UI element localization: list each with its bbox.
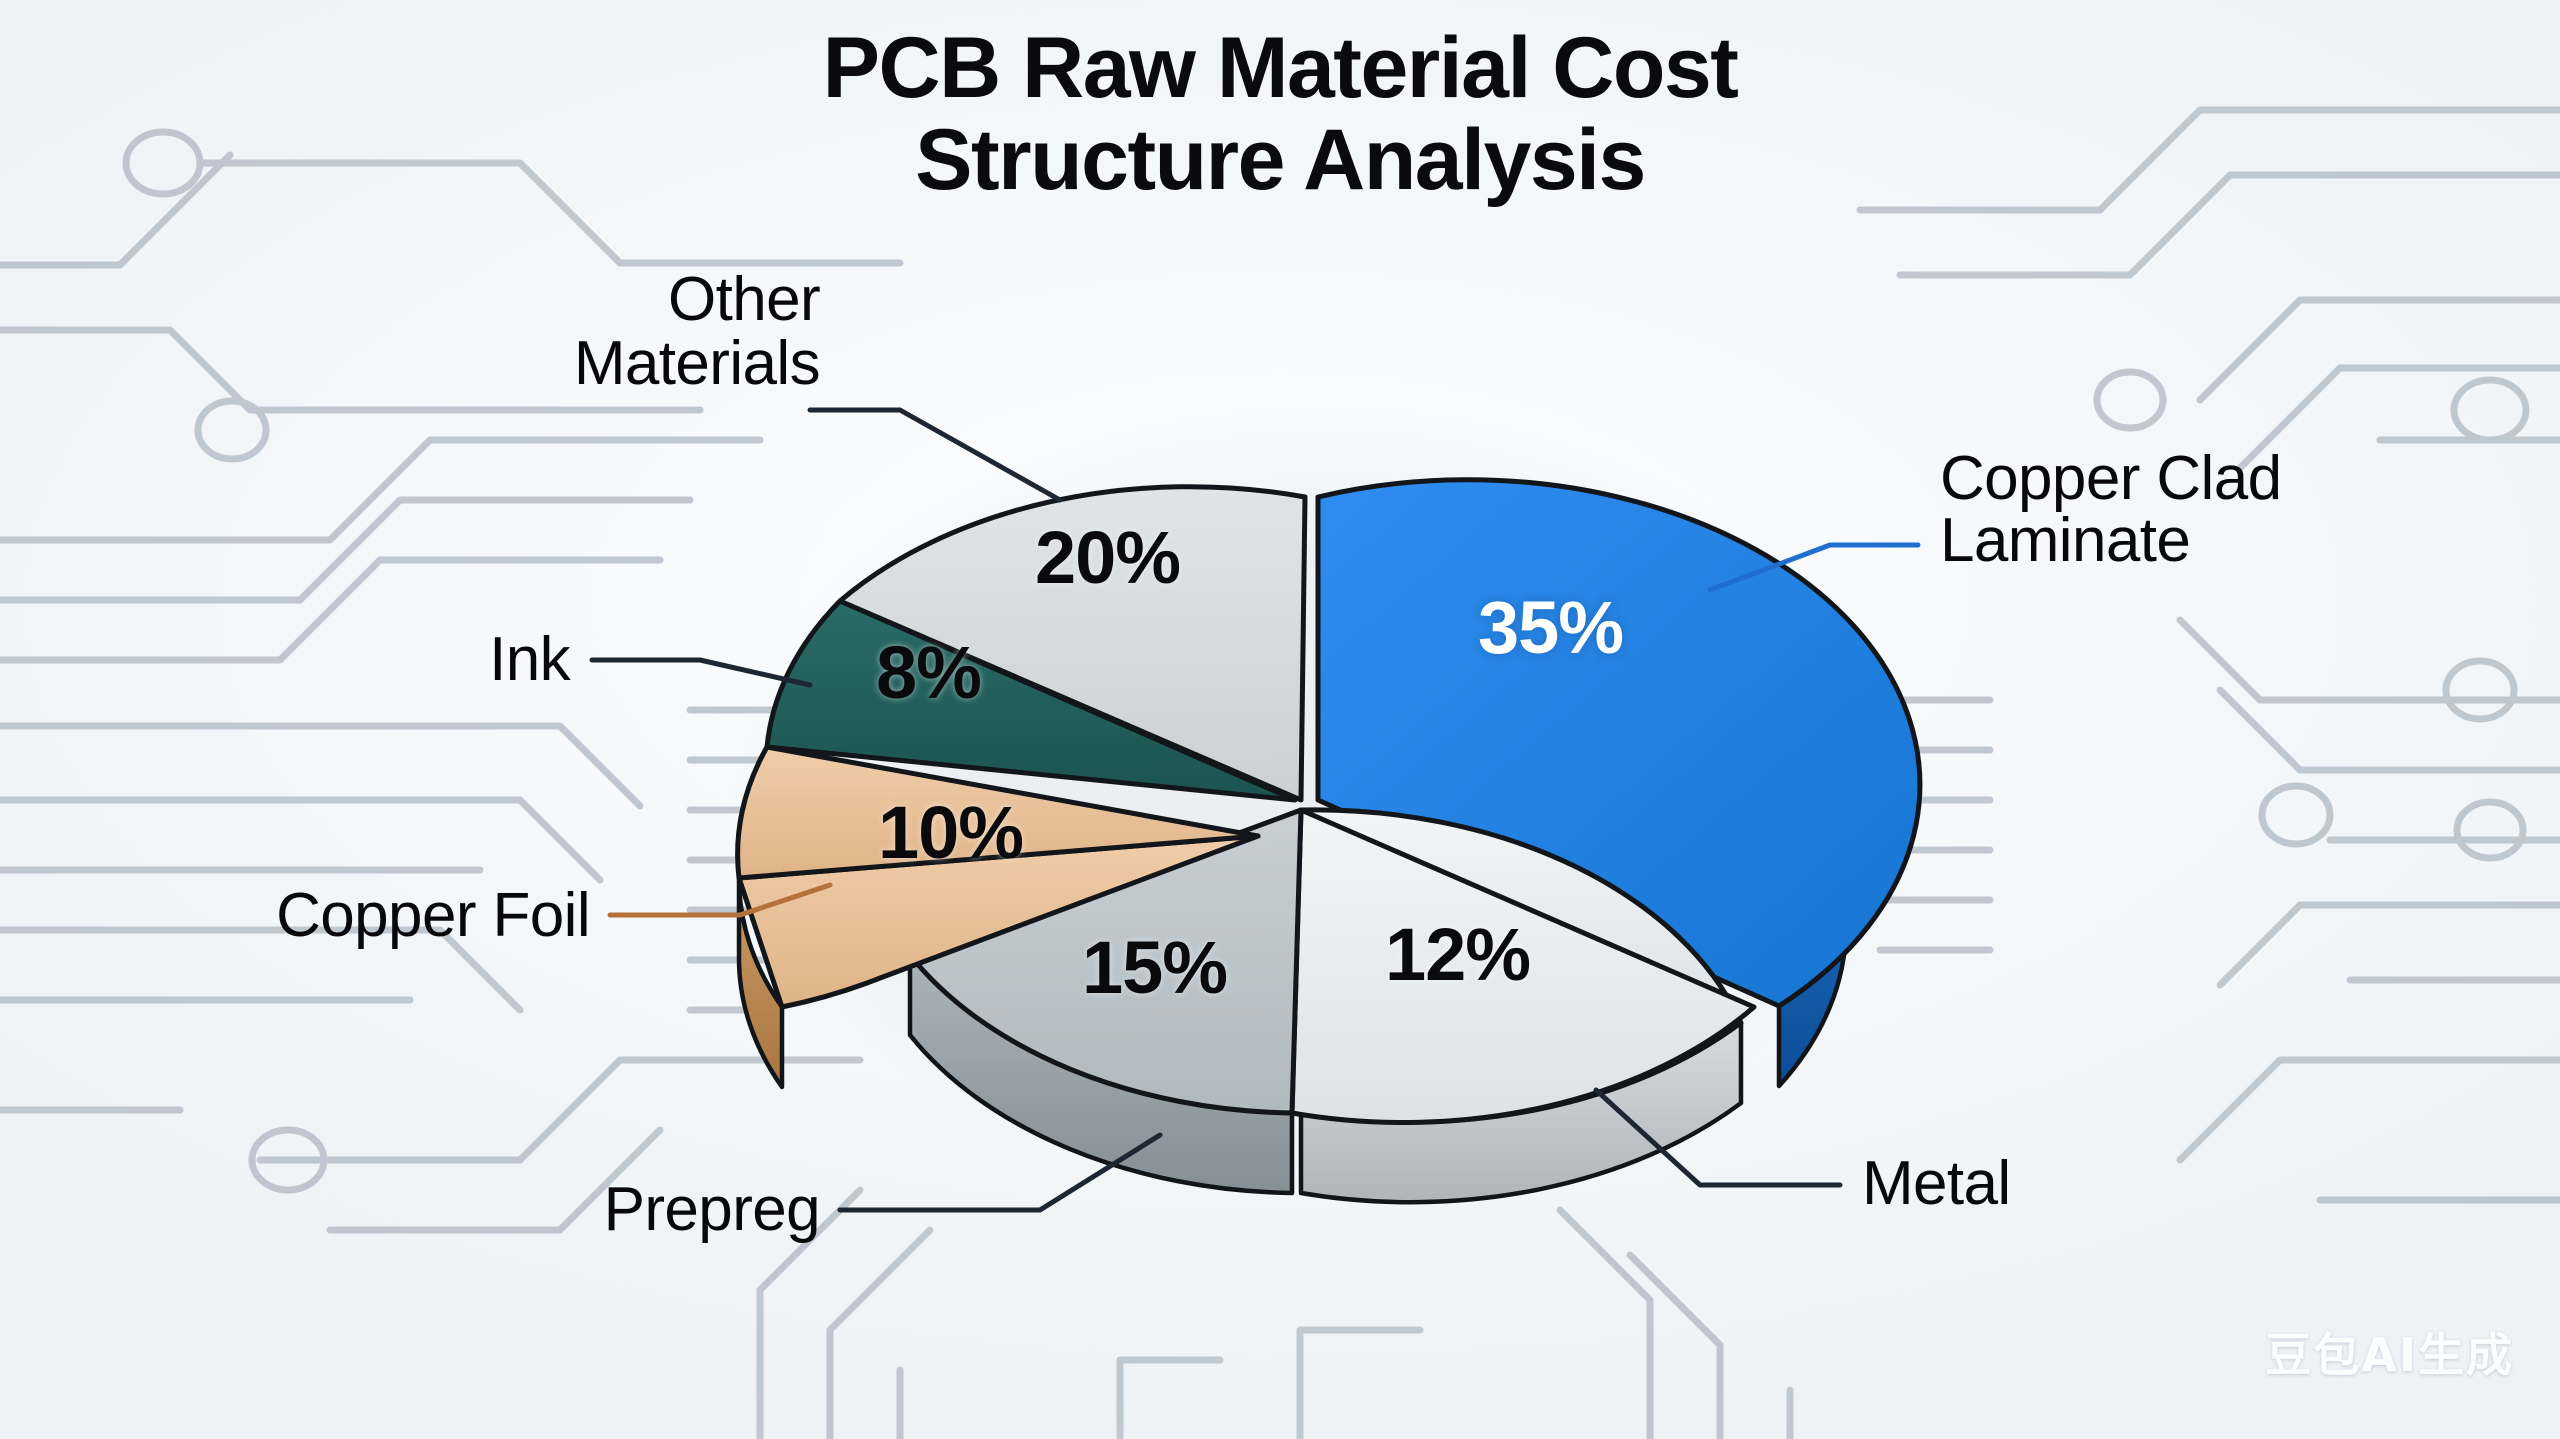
slice-value-copper-foil: 10% [878,790,1023,875]
callout-label-prepreg: Prepreg [400,1178,820,1242]
chart-title-line-1: PCB Raw Material Cost [630,22,1930,114]
pie-chart [0,0,2560,1439]
slice-value-ink: 8% [876,630,981,715]
callout-label-other-materials-line-2: Materials [420,332,820,396]
slice-value-other-materials: 20% [1035,515,1180,600]
watermark: 豆包AI生成 [2265,1319,2514,1385]
callout-label-metal: Metal [1862,1152,2011,1216]
slice-value-metal: 12% [1385,912,1530,997]
callout-label-ink: Ink [300,628,570,692]
callout-label-copper-clad-laminate: Copper Clad Laminate [1940,448,2460,572]
chart-title-line-2: Structure Analysis [630,114,1930,206]
chart-canvas: PCB Raw Material Cost Structure Analysis… [0,0,2560,1439]
callout-label-other-materials-line-1: Other [420,268,820,332]
chart-title: PCB Raw Material Cost Structure Analysis [630,22,1930,206]
slice-value-copper-clad-laminate: 35% [1478,585,1623,670]
callout-label-other-materials: Other Materials [420,268,820,397]
callout-label-copper-clad-laminate-line-2: Laminate [1940,510,2460,572]
callout-label-copper-foil: Copper Foil [140,884,590,948]
slice-value-prepreg: 15% [1082,925,1227,1010]
callout-label-copper-clad-laminate-line-1: Copper Clad [1940,448,2460,510]
